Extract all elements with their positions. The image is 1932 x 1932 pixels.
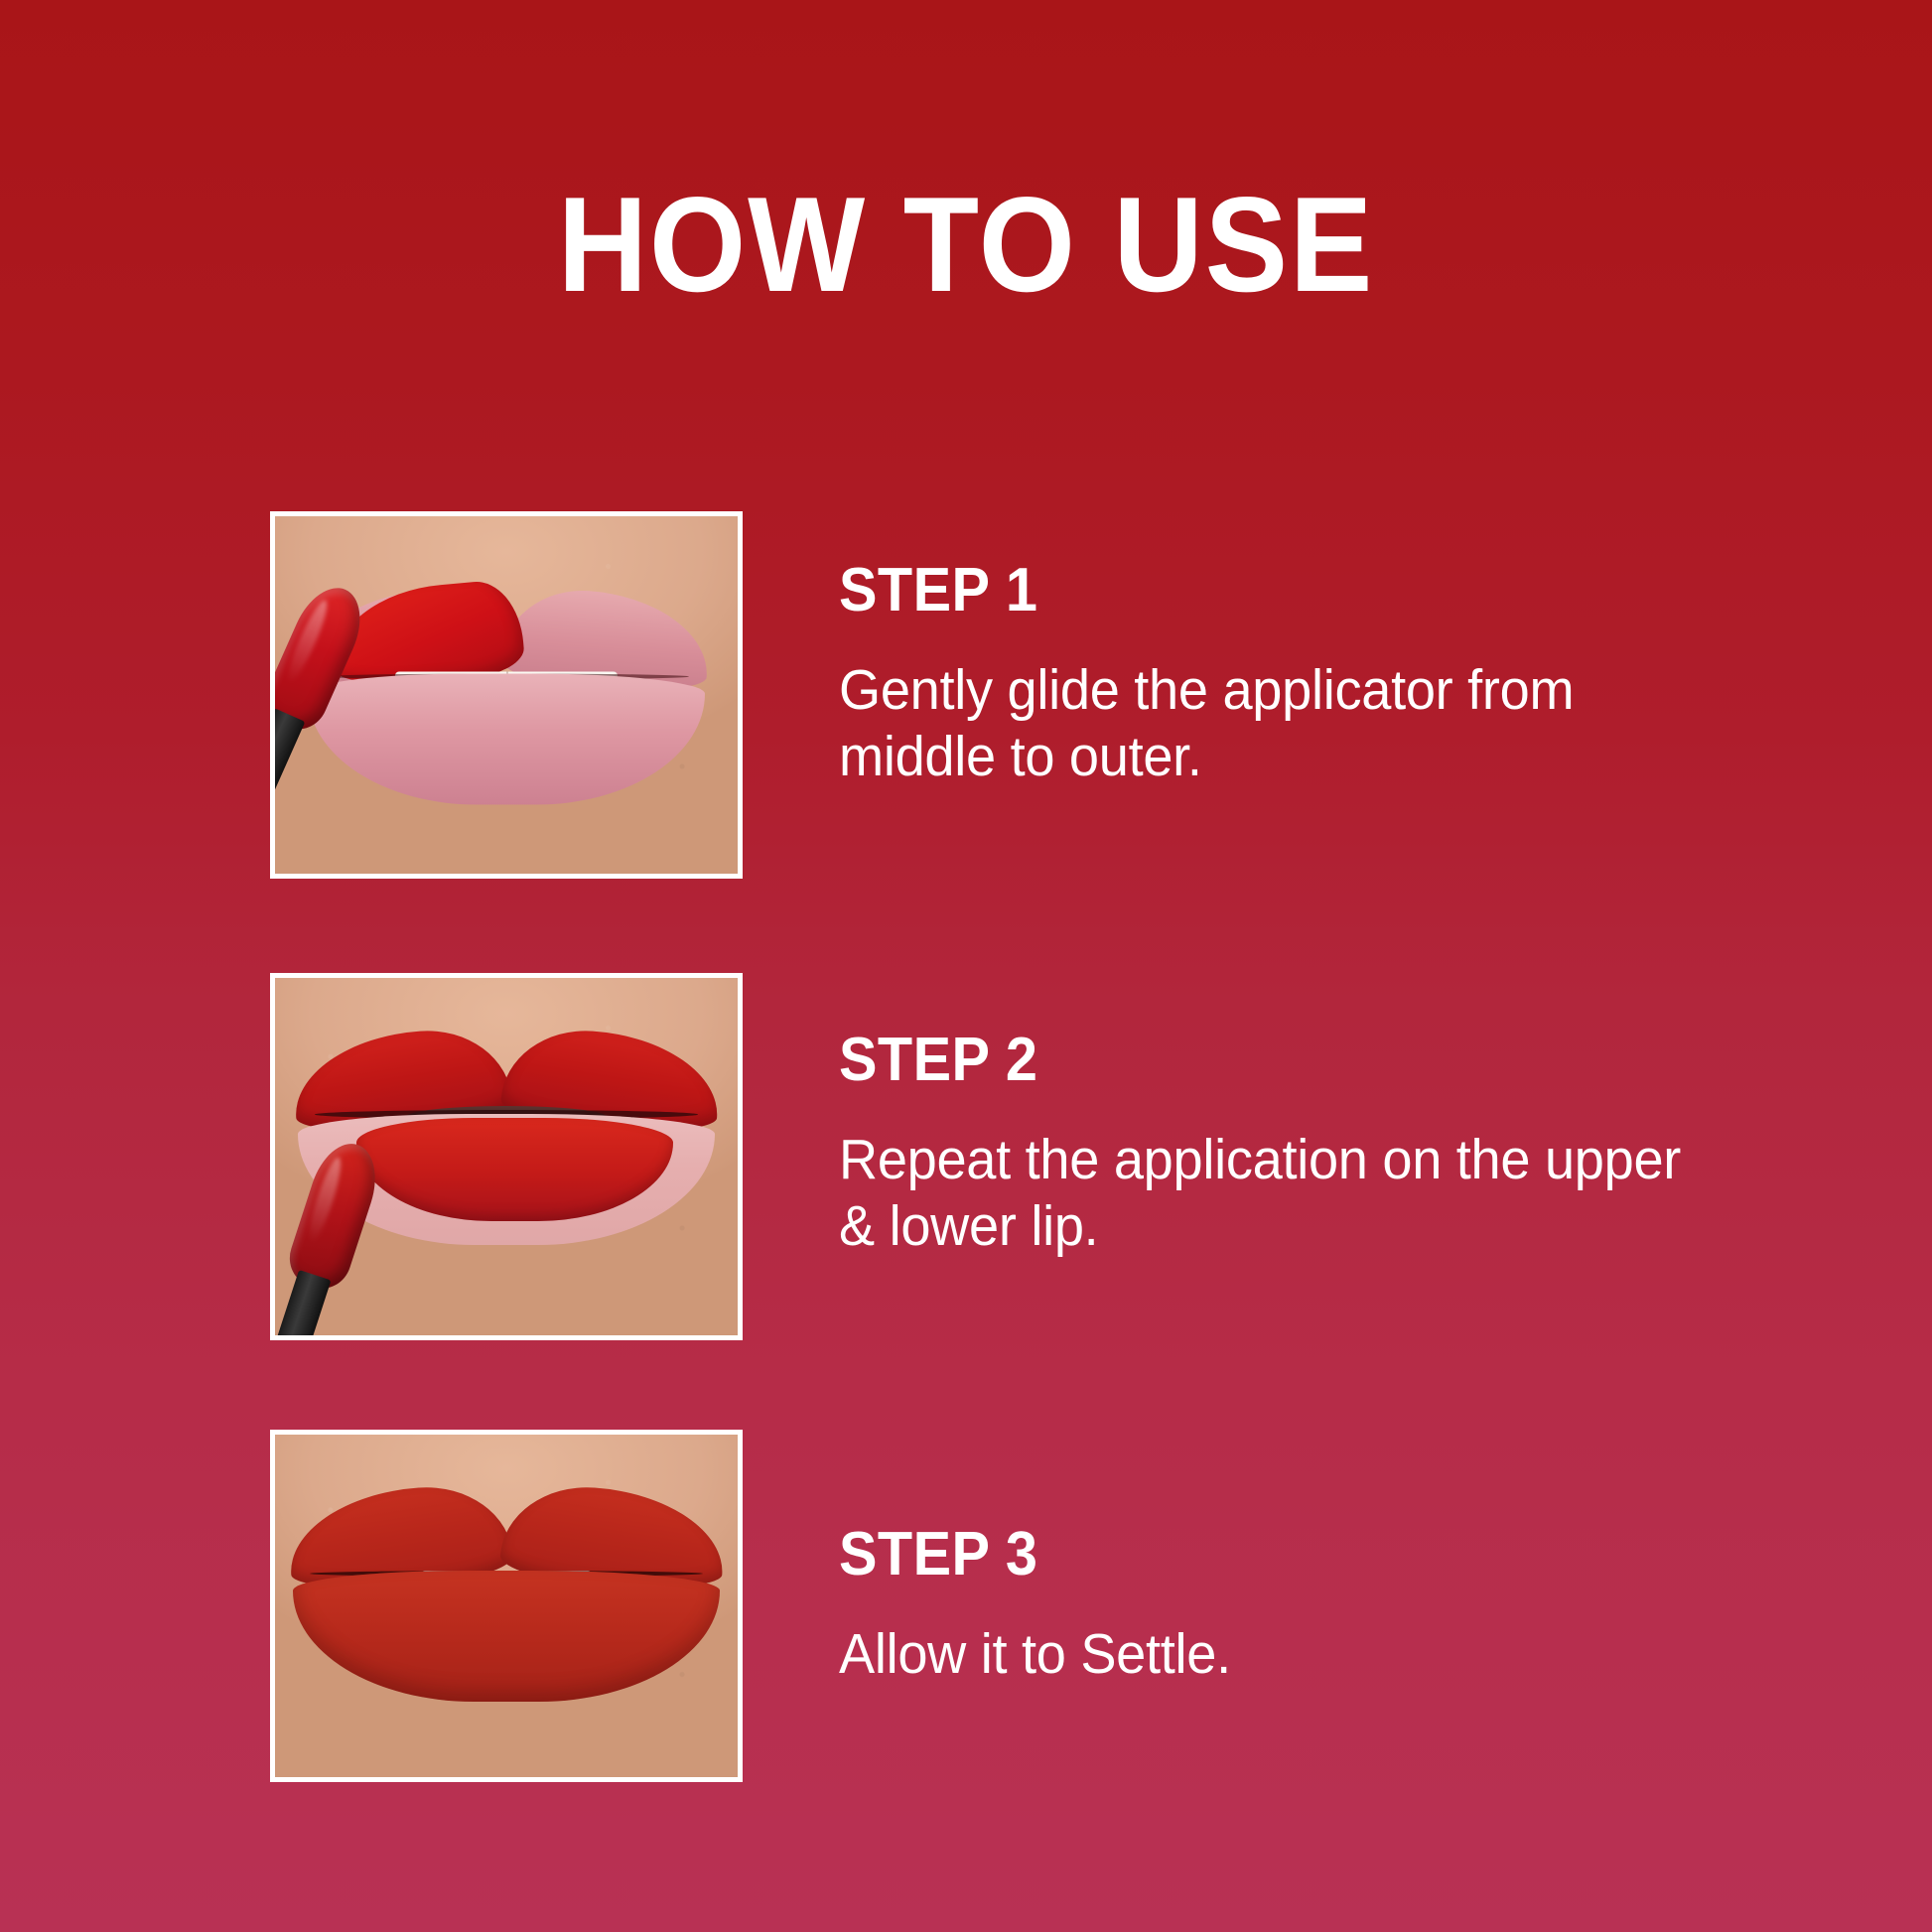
step-1-photo-frame	[270, 511, 743, 879]
step-2-photo-frame	[270, 973, 743, 1340]
step-2-text-block: STEP 2 Repeat the application on the upp…	[839, 1030, 1732, 1261]
step-1-photo	[275, 516, 738, 874]
step-2-heading: STEP 2	[839, 1030, 1670, 1091]
how-to-use-poster: HOW TO USE	[0, 0, 1932, 1932]
step-3-description: Allow it to Settle.	[839, 1621, 1688, 1688]
step-3-heading: STEP 3	[839, 1524, 1670, 1586]
step-1-heading: STEP 1	[839, 560, 1670, 621]
step-row-1: STEP 1 Gently glide the applicator from …	[0, 496, 1932, 894]
step-3-photo	[275, 1435, 738, 1777]
step-2-description: Repeat the application on the upper & lo…	[839, 1127, 1688, 1261]
lips-illustration	[293, 1475, 720, 1724]
page-title: HOW TO USE	[77, 177, 1855, 312]
lower-lip	[308, 674, 705, 805]
step-3-photo-frame	[270, 1430, 743, 1782]
step-3-text-block: STEP 3 Allow it to Settle.	[839, 1524, 1732, 1688]
wand-handle	[275, 1270, 332, 1335]
step-row-3: STEP 3 Allow it to Settle.	[0, 1415, 1932, 1812]
step-1-description: Gently glide the applicator from middle …	[839, 657, 1688, 791]
lower-lip	[293, 1571, 720, 1702]
step-1-text-block: STEP 1 Gently glide the applicator from …	[839, 560, 1732, 791]
step-row-2: STEP 2 Repeat the application on the upp…	[0, 958, 1932, 1355]
step-2-photo	[275, 978, 738, 1335]
